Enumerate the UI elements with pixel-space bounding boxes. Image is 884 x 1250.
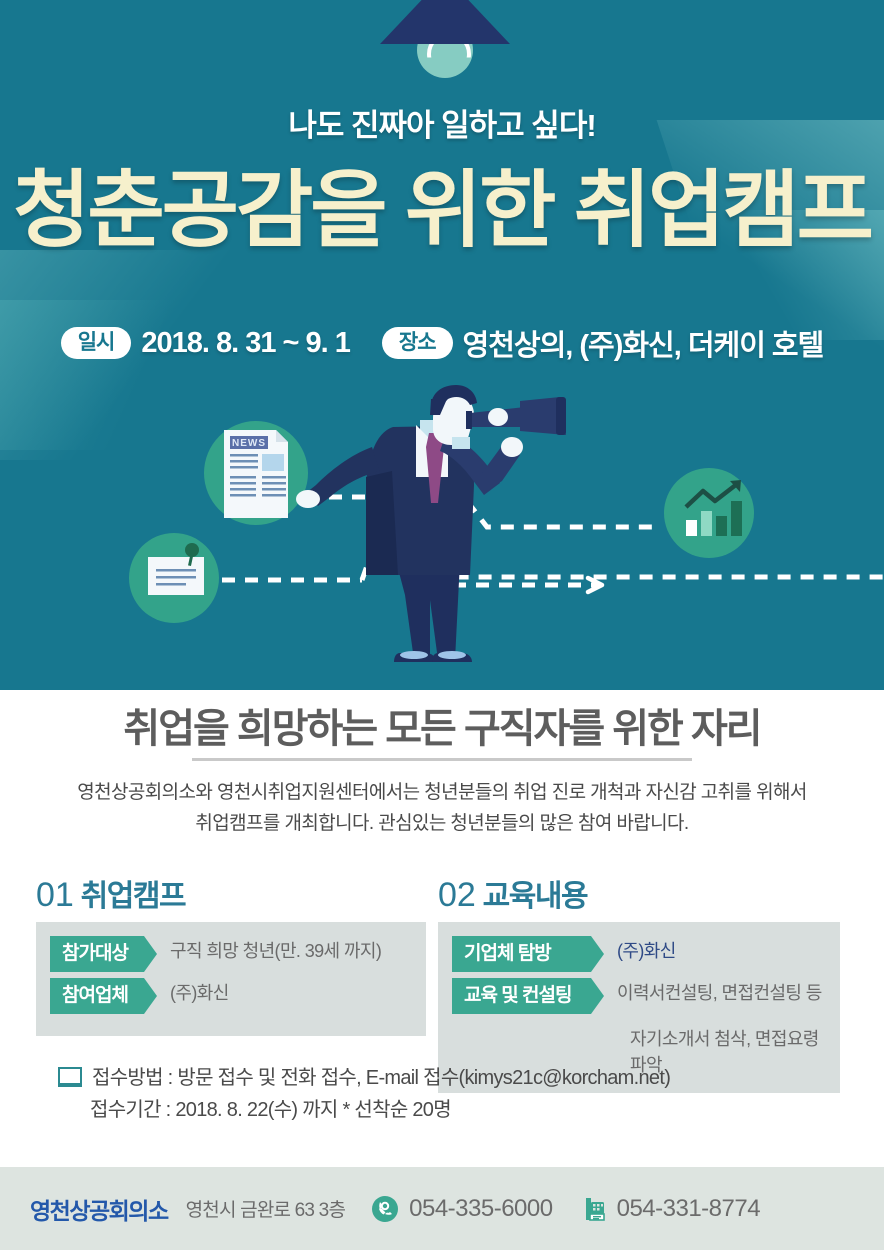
intro-paragraph: 영천상공회의소와 영천시취업지원센터에서는 청년분들의 취업 진로 개척과 자신…	[0, 778, 884, 840]
telephone-icon	[371, 1195, 399, 1223]
illustration-svg: NEWS	[0, 385, 884, 690]
info-row: 참가대상 구직 희망 청년(만. 39세 까지)	[50, 936, 414, 972]
event-meta-row: 일시 2018. 8. 31 ~ 9. 1 장소 영천상의, (주)화신, 더케…	[0, 322, 884, 364]
section-02-row-1-value: 이력서컨설팅, 면접컨설팅 등	[604, 978, 822, 1005]
section-02-row-0-label: 기업체 탐방	[452, 936, 604, 972]
hanging-lamp-icon	[380, 0, 510, 72]
sub-headline: 나도 진짜아 일하고 싶다!	[0, 100, 884, 145]
section-01-heading: 01 취업캠프	[36, 878, 426, 912]
section-02-row-0-value: (주)화신	[604, 936, 676, 963]
fax-icon	[579, 1195, 607, 1223]
organization-phone: 054-335-6000	[409, 1195, 552, 1223]
section-01-row-0-label: 참가대상	[50, 936, 157, 972]
footer-bar: 영천상공회의소 영천시 금완로 63 3층 054-335-6000	[0, 1167, 884, 1250]
section-02: 02 교육내용 기업체 탐방 (주)화신 교육 및 컨설팅 이력서컨설팅, 면접…	[438, 878, 840, 1093]
hero-illustration: NEWS	[0, 385, 884, 690]
application-box-icon	[58, 1067, 82, 1087]
section-02-number: 02	[438, 876, 476, 914]
businessman-with-telescope-icon	[296, 385, 566, 662]
intro-line-2: 취업캠프를 개최합니다. 관심있는 청년분들의 많은 참여 바랍니다.	[0, 809, 884, 840]
section-02-row-1-label: 교육 및 컨설팅	[452, 978, 604, 1014]
svg-text:NEWS: NEWS	[232, 438, 266, 449]
news-document-icon: NEWS	[224, 430, 288, 518]
page-title: 청춘공감을 위한 취업캠프	[0, 166, 884, 254]
application-period: 접수기간 : 2018. 8. 22(수) 까지 * 선착순 20명	[58, 1094, 858, 1126]
section-01-title: 취업캠프	[81, 880, 185, 913]
info-row: 기업체 탐방 (주)화신	[452, 936, 828, 972]
info-row: 교육 및 컨설팅 이력서컨설팅, 면접컨설팅 등	[452, 978, 828, 1014]
section-01: 01 취업캠프 참가대상 구직 희망 청년(만. 39세 까지) 참여업체 (주…	[36, 878, 426, 1036]
section-01-box: 참가대상 구직 희망 청년(만. 39세 까지) 참여업체 (주)화신	[36, 922, 426, 1036]
section-01-row-1-label: 참여업체	[50, 978, 157, 1014]
intro-line-1: 영천상공회의소와 영천시취업지원센터에서는 청년분들의 취업 진로 개척과 자신…	[0, 778, 884, 809]
section-01-number: 01	[36, 876, 74, 914]
application-info: 접수방법 : 방문 접수 및 전화 접수, E-mail 접수(kimys21c…	[58, 1062, 858, 1126]
organization-address: 영천시 금완로 63 3층	[186, 1195, 346, 1222]
heading-divider	[192, 758, 692, 761]
poster-root: 나도 진짜아 일하고 싶다! 청춘공감을 위한 취업캠프 일시 2018. 8.…	[0, 0, 884, 1250]
application-method: 접수방법 : 방문 접수 및 전화 접수, E-mail 접수(kimys21c…	[92, 1067, 670, 1089]
venue-value: 영천상의, (주)화신, 더케이 호텔	[463, 322, 824, 364]
section-02-heading: 02 교육내용	[438, 878, 840, 912]
date-label-pill: 일시	[61, 327, 132, 359]
lamp-shade-icon	[380, 0, 510, 44]
date-value: 2018. 8. 31 ~ 9. 1	[141, 327, 350, 360]
section-02-title: 교육내용	[483, 880, 587, 913]
application-line-1: 접수방법 : 방문 접수 및 전화 접수, E-mail 접수(kimys21c…	[58, 1062, 858, 1094]
section-01-row-0-value: 구직 희망 청년(만. 39세 까지)	[157, 936, 381, 963]
info-row: 참여업체 (주)화신	[50, 978, 414, 1014]
organization-name: 영천상공회의소	[30, 1192, 168, 1226]
venue-label-pill: 장소	[382, 327, 453, 359]
section-heading: 취업을 희망하는 모든 구직자를 위한 자리	[0, 696, 884, 754]
organization-fax: 054-331-8774	[617, 1195, 760, 1223]
section-01-row-1-value: (주)화신	[157, 978, 229, 1005]
